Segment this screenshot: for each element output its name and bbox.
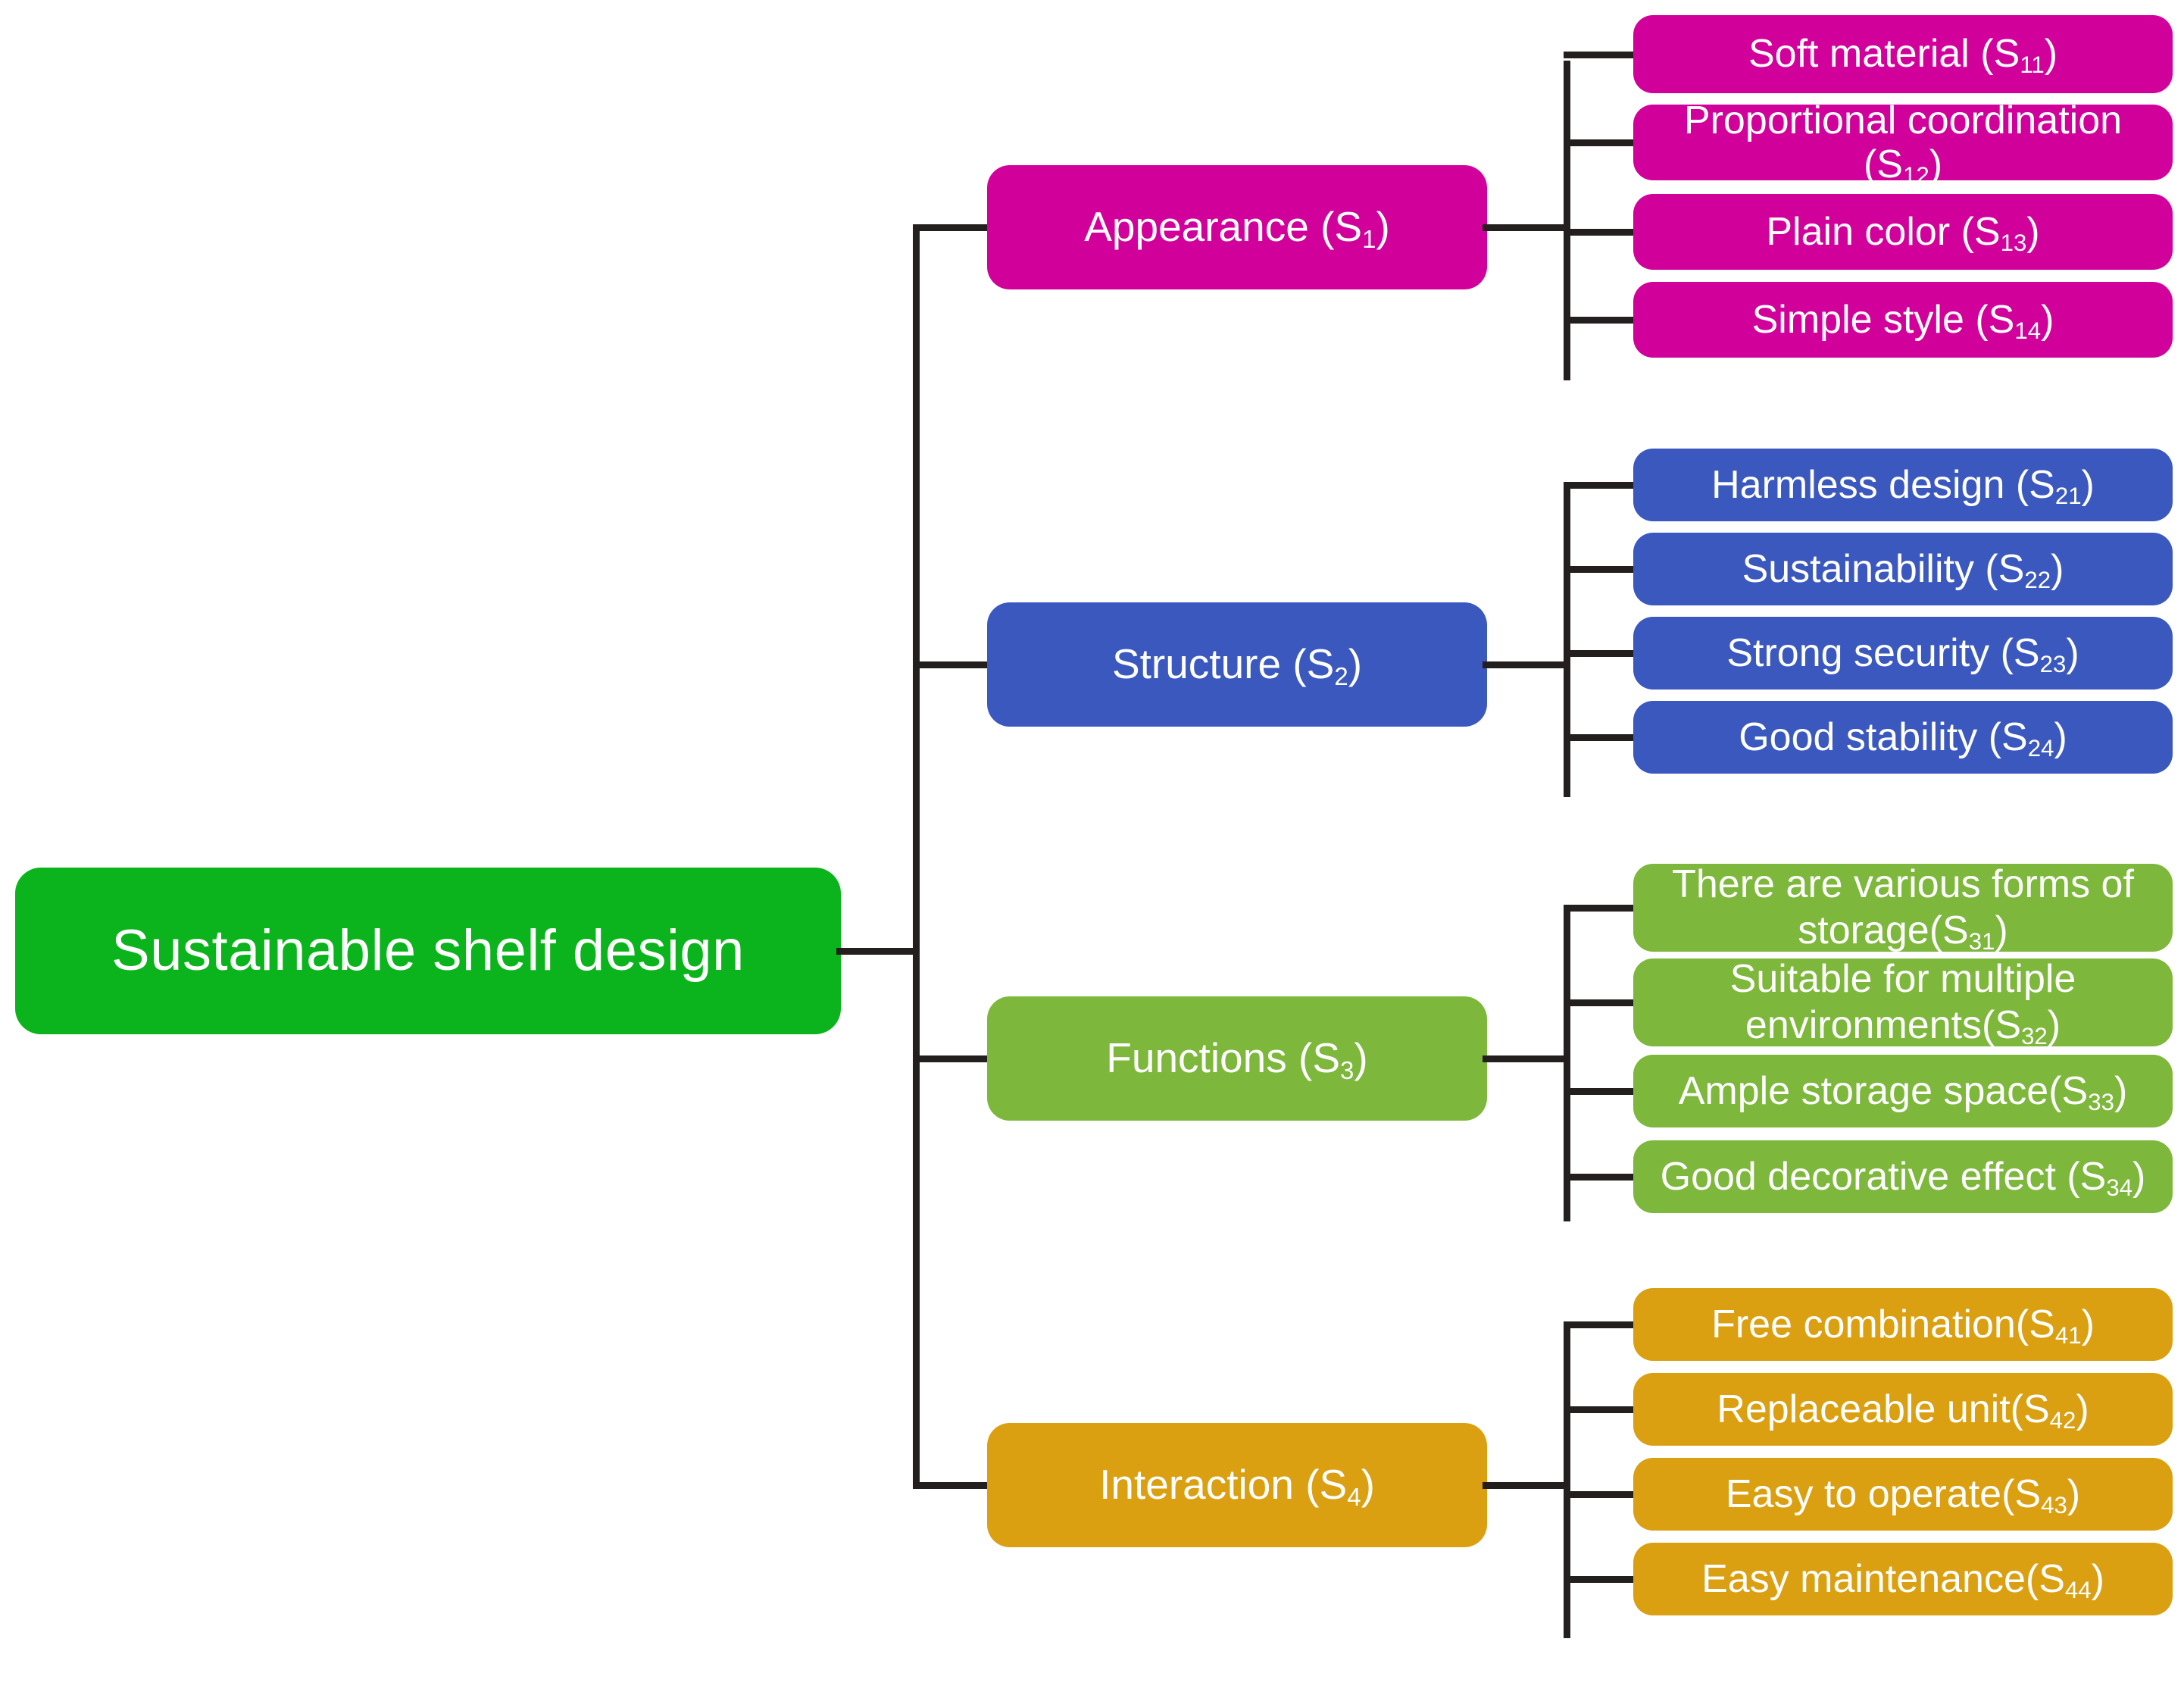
- leaf-connector-line-S44: [1564, 1576, 1638, 1583]
- leaf-node-S34[interactable]: Good decorative effect (S34): [1633, 1140, 2173, 1213]
- leaf-node-S14[interactable]: Simple style (S14): [1633, 282, 2173, 358]
- branch-connector-line-S1: [913, 224, 992, 231]
- leaf-node-S42[interactable]: Replaceable unit(S42): [1633, 1373, 2173, 1446]
- subbranch-trunk-line-S1: [1564, 61, 1570, 380]
- leaf-node-S12[interactable]: Proportional coordination (S12): [1633, 105, 2173, 180]
- leaf-connector-line-S11: [1564, 52, 1638, 58]
- subbranch-stem-line-S3: [1483, 1055, 1570, 1062]
- leaf-connector-line-S21: [1564, 482, 1638, 489]
- main-trunk-line: [913, 227, 920, 1485]
- leaf-node-S32[interactable]: Suitable for multiple environments(S32): [1633, 959, 2173, 1046]
- branch-connector-line-S2: [913, 661, 992, 668]
- branch-node-S3[interactable]: Functions (S3): [987, 996, 1487, 1121]
- leaf-connector-line-S22: [1564, 566, 1638, 573]
- leaf-connector-line-S42: [1564, 1406, 1638, 1413]
- branch-node-S4[interactable]: Interaction (S4): [987, 1423, 1487, 1547]
- leaf-connector-line-S12: [1564, 139, 1638, 146]
- leaf-connector-line-S41: [1564, 1321, 1638, 1328]
- subbranch-trunk-line-S2: [1564, 485, 1570, 797]
- leaf-node-S41[interactable]: Free combination(S41): [1633, 1288, 2173, 1361]
- subbranch-stem-line-S1: [1483, 224, 1570, 231]
- leaf-node-S22[interactable]: Sustainability (S22): [1633, 533, 2173, 605]
- leaf-connector-line-S13: [1564, 229, 1638, 236]
- branch-connector-line-S4: [913, 1482, 992, 1489]
- leaf-node-S21[interactable]: Harmless design (S21): [1633, 449, 2173, 521]
- subbranch-trunk-line-S4: [1564, 1328, 1570, 1638]
- leaf-connector-line-S23: [1564, 650, 1638, 657]
- leaf-connector-line-S14: [1564, 317, 1638, 324]
- leaf-connector-line-S43: [1564, 1491, 1638, 1498]
- leaf-node-S33[interactable]: Ample storage space(S33): [1633, 1055, 2173, 1127]
- leaf-node-S24[interactable]: Good stability (S24): [1633, 701, 2173, 774]
- leaf-node-S43[interactable]: Easy to operate(S43): [1633, 1458, 2173, 1531]
- leaf-connector-line-S33: [1564, 1088, 1638, 1095]
- branch-connector-line-S3: [913, 1055, 992, 1062]
- leaf-connector-line-S32: [1564, 999, 1638, 1006]
- subbranch-stem-line-S2: [1483, 661, 1570, 668]
- branch-node-S1[interactable]: Appearance (S1): [987, 165, 1487, 289]
- leaf-connector-line-S34: [1564, 1174, 1638, 1181]
- root-connector-line: [836, 948, 920, 955]
- subbranch-stem-line-S4: [1483, 1482, 1570, 1489]
- leaf-connector-line-S24: [1564, 734, 1638, 741]
- branch-node-S2[interactable]: Structure (S2): [987, 602, 1487, 727]
- leaf-node-S13[interactable]: Plain color (S13): [1633, 194, 2173, 270]
- leaf-node-S23[interactable]: Strong security (S23): [1633, 617, 2173, 690]
- leaf-node-S31[interactable]: There are various forms of storage(S31): [1633, 864, 2173, 952]
- leaf-node-S44[interactable]: Easy maintenance(S44): [1633, 1543, 2173, 1615]
- leaf-node-S11[interactable]: Soft material (S11): [1633, 15, 2173, 93]
- leaf-connector-line-S31: [1564, 905, 1638, 912]
- mindmap-canvas: Sustainable shelf designAppearance (S1)S…: [0, 0, 2184, 1695]
- root-node[interactable]: Sustainable shelf design: [15, 868, 841, 1034]
